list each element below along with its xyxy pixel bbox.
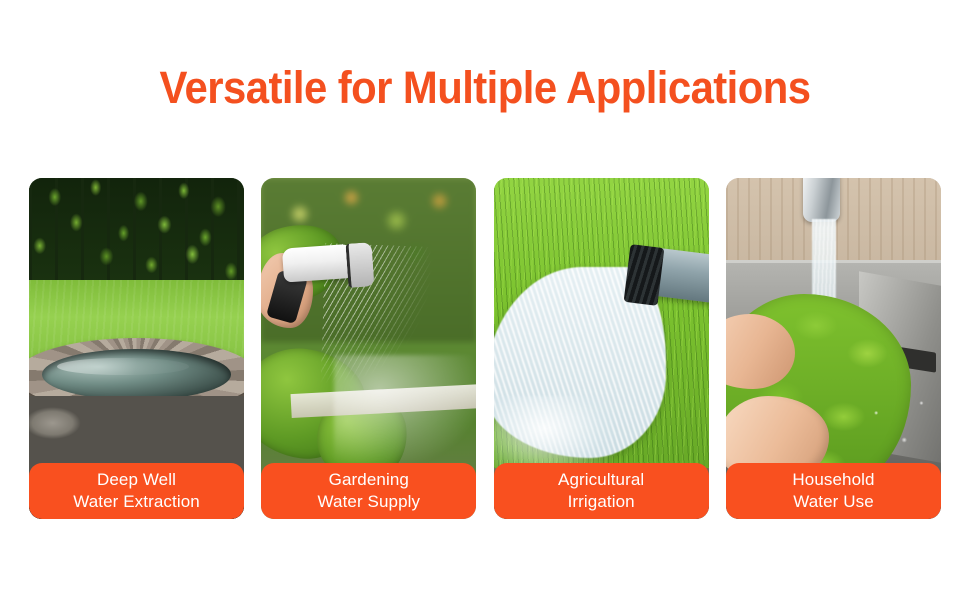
application-card-household[interactable]: Household Water Use (726, 178, 941, 519)
card-caption-gardening: Gardening Water Supply (261, 463, 476, 519)
caption-line-2: Water Use (793, 491, 874, 513)
caption-line-2: Water Supply (318, 491, 421, 513)
caption-line-2: Water Extraction (73, 491, 200, 513)
hedge-backdrop (29, 178, 244, 284)
page-title: Versatile for Multiple Applications (34, 62, 936, 114)
caption-line-2: Irrigation (568, 491, 635, 513)
caption-line-1: Gardening (329, 469, 409, 491)
caption-line-1: Household (792, 469, 874, 491)
caption-line-1: Deep Well (97, 469, 176, 491)
well-water-surface (42, 349, 231, 400)
card-caption-deep-well: Deep Well Water Extraction (29, 463, 244, 519)
water-mist (334, 355, 476, 471)
card-caption-household: Household Water Use (726, 463, 941, 519)
application-card-gardening[interactable]: Gardening Water Supply (261, 178, 476, 519)
card-caption-agricultural: Agricultural Irrigation (494, 463, 709, 519)
application-banner: Versatile for Multiple Applications Deep… (0, 0, 970, 600)
chrome-faucet (803, 178, 840, 222)
application-card-row: Deep Well Water Extraction Gardening (29, 178, 941, 519)
application-card-deep-well[interactable]: Deep Well Water Extraction (29, 178, 244, 519)
caption-line-1: Agricultural (558, 469, 644, 491)
spray-nozzle-head (346, 242, 375, 288)
application-card-agricultural[interactable]: Agricultural Irrigation (494, 178, 709, 519)
